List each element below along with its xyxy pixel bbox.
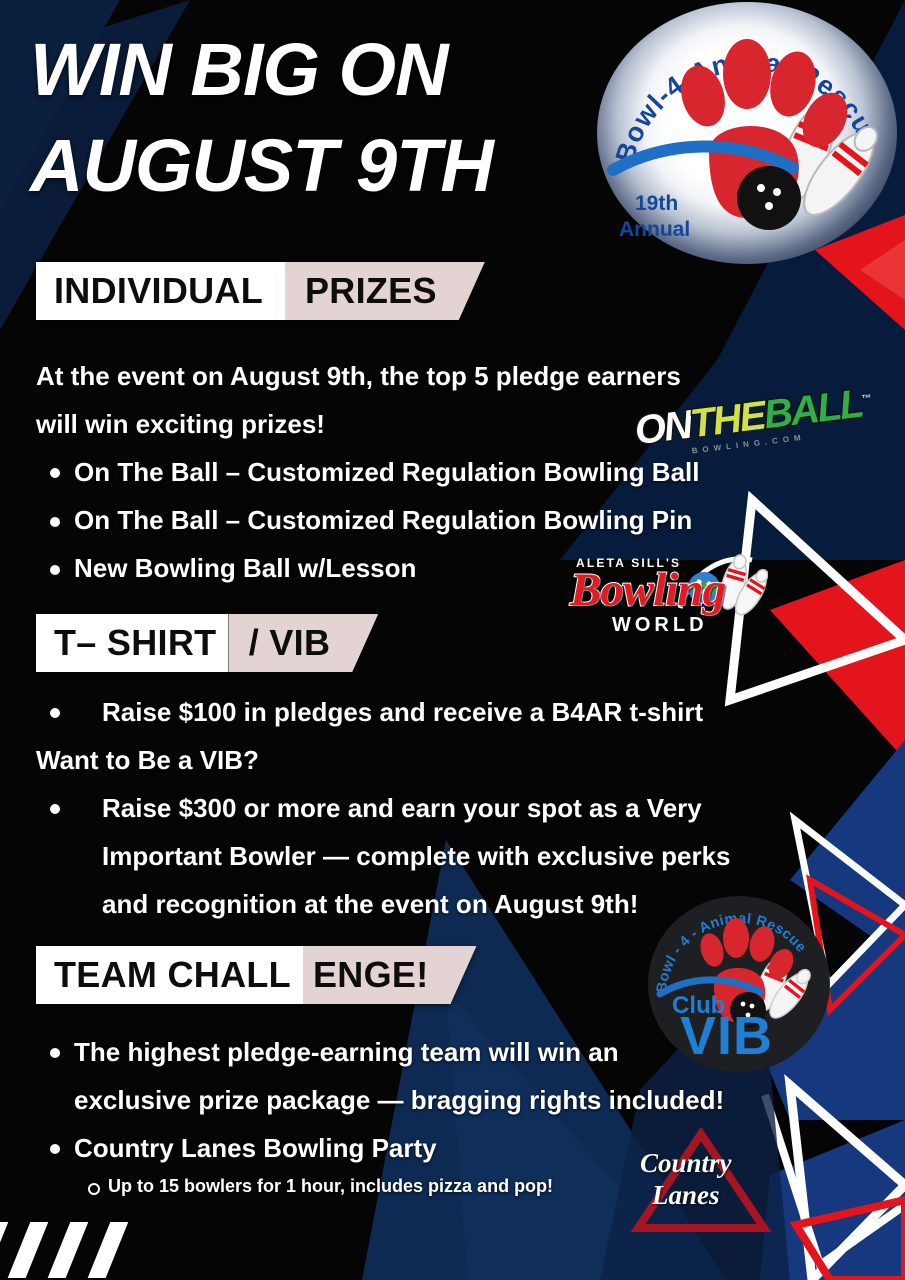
vib-question: Want to Be a VIB? xyxy=(36,736,776,784)
emblem-annual-line-1: 19th xyxy=(635,192,678,215)
team-item-line-1: The highest pledge-earning team will win… xyxy=(74,1037,619,1067)
emblem-annual-line-2: Annual xyxy=(619,218,690,241)
team-item-line-2: exclusive prize package — bragging right… xyxy=(74,1085,724,1115)
banner-tshirt-label-white: T– SHIRT xyxy=(54,625,216,661)
team-item-2: Country Lanes Bowling Party xyxy=(74,1133,437,1163)
list-item: On The Ball – Customized Regulation Bowl… xyxy=(36,448,736,496)
tshirt-list-first: Raise $100 in pledges and receive a B4AR… xyxy=(36,688,776,736)
list-item: Up to 15 bowlers for 1 hour, includes pi… xyxy=(74,1172,796,1201)
team-challenge-copy: The highest pledge-earning team will win… xyxy=(36,1028,796,1201)
list-item: New Bowling Ball w/Lesson xyxy=(36,544,736,592)
list-item: Country Lanes Bowling Party Up to 15 bow… xyxy=(36,1124,796,1201)
banner-team-pink: ENGE! xyxy=(303,946,477,1004)
list-item: Raise $100 in pledges and receive a B4AR… xyxy=(36,688,776,736)
list-item: On The Ball – Customized Regulation Bowl… xyxy=(36,496,736,544)
tshirt-vib-copy: Raise $100 in pledges and receive a B4AR… xyxy=(36,688,776,928)
team-challenge-sublist: Up to 15 bowlers for 1 hour, includes pi… xyxy=(74,1172,796,1201)
emblem-artwork: Bowl-4-Animal Rescue xyxy=(597,2,897,264)
page-title: WIN BIG ON AUGUST 9TH xyxy=(30,22,630,214)
individual-intro-line-2: will win exciting prizes! xyxy=(36,400,736,448)
headline-line-1: WIN BIG ON xyxy=(30,22,630,118)
poster-canvas: WIN BIG ON AUGUST 9TH Bowl-4-Animal Resc… xyxy=(0,0,905,1280)
tshirt-list-second: Raise $300 or more and earn your spot as… xyxy=(36,784,776,928)
individual-prizes-copy: At the event on August 9th, the top 5 pl… xyxy=(36,352,736,592)
vib-item-line-1: Raise $300 or more and earn your spot as… xyxy=(102,793,702,823)
banner-tshirt-vib: T– SHIRT / VIB xyxy=(36,614,378,672)
banner-individual-prizes: INDIVIDUAL PRIZES xyxy=(36,262,485,320)
banner-team-label-white: TEAM CHALL xyxy=(54,957,291,993)
vib-item-line-2: Important Bowler — complete with exclusi… xyxy=(102,841,731,871)
bowling-world-bottom-text: WORLD xyxy=(612,614,708,637)
team-challenge-list: The highest pledge-earning team will win… xyxy=(36,1028,796,1201)
banner-individual-white: INDIVIDUAL xyxy=(36,262,285,320)
banner-team-label-pink: ENGE! xyxy=(313,957,429,993)
list-item: The highest pledge-earning team will win… xyxy=(36,1028,796,1124)
individual-intro-line-1: At the event on August 9th, the top 5 pl… xyxy=(36,352,736,400)
banner-individual-label-white: INDIVIDUAL xyxy=(54,273,273,309)
banner-team-white: TEAM CHALL xyxy=(36,946,303,1004)
headline-line-2: AUGUST 9TH xyxy=(30,118,630,214)
banner-tshirt-white: T– SHIRT xyxy=(36,614,228,672)
individual-prize-list: On The Ball – Customized Regulation Bowl… xyxy=(36,448,736,592)
bowling-ball xyxy=(737,166,801,230)
banner-individual-pink: PRIZES xyxy=(285,262,485,320)
banner-tshirt-pink: / VIB xyxy=(228,614,378,672)
banner-tshirt-label-pink: / VIB xyxy=(238,625,330,661)
banner-team-challenge: TEAM CHALL ENGE! xyxy=(36,946,476,1004)
vib-item-line-3: and recognition at the event on August 9… xyxy=(102,889,638,919)
banner-individual-label-pink: PRIZES xyxy=(295,273,437,309)
otb-trademark: ™ xyxy=(861,393,870,405)
list-item: Raise $300 or more and earn your spot as… xyxy=(36,784,776,928)
